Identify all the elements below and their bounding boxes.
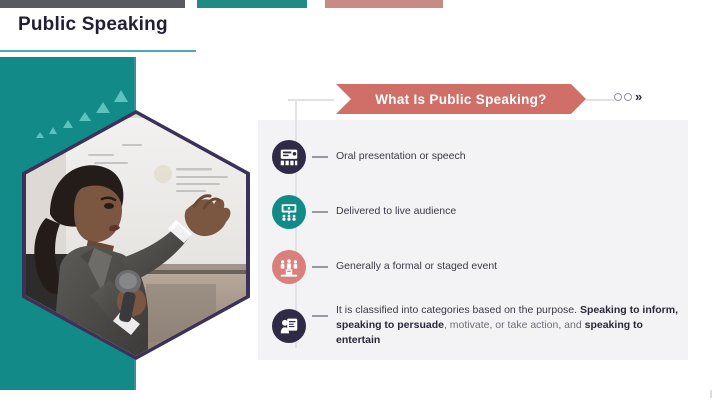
list-item-dash: [312, 315, 328, 317]
page-title: Public Speaking: [18, 14, 168, 36]
audience-screen-glyph: [278, 201, 300, 223]
presentation-board-icon: [272, 140, 306, 174]
list-item-dash: [312, 266, 328, 268]
top-bar-gap-2: [307, 0, 325, 8]
list-item: It is classified into categories based o…: [272, 303, 680, 349]
list-item: Oral presentation or speech: [272, 140, 466, 174]
banner-lead-line: [586, 99, 614, 101]
section-banner: What Is Public Speaking?: [336, 84, 586, 114]
banner-arrow-group: »: [614, 90, 642, 103]
list-item-text: It is classified into categories based o…: [336, 303, 680, 349]
podium-audience-glyph: [278, 256, 300, 278]
speaker-slide-icon: [272, 309, 306, 343]
list-item-text: Generally a formal or staged event: [336, 259, 497, 274]
dot-ring-icon-2: [624, 93, 632, 101]
speaker-photo: [26, 114, 246, 356]
top-bar-gray: [0, 0, 185, 8]
section-banner-label: What Is Public Speaking?: [375, 92, 546, 107]
title-underline: [0, 50, 196, 52]
page-marker: [710, 390, 712, 398]
list-item-text: Delivered to live audience: [336, 204, 456, 219]
list-item: Delivered to live audience: [272, 195, 456, 229]
top-bar-teal: [197, 0, 307, 8]
triangle-icon-6: [114, 90, 128, 102]
speaker-photo-illustration: [26, 114, 246, 356]
top-bar-salmon: [325, 0, 443, 8]
speaker-photo-hexagon: [22, 110, 250, 360]
list-item-text: Oral presentation or speech: [336, 149, 466, 164]
speaker-slide-glyph: [278, 315, 300, 337]
list-item-dash: [312, 211, 328, 213]
top-color-bars: [0, 0, 720, 8]
podium-audience-icon: [272, 250, 306, 284]
dot-ring-icon-1: [614, 93, 622, 101]
audience-screen-icon: [272, 195, 306, 229]
list-item: Generally a formal or staged event: [272, 250, 497, 284]
list-item-dash: [312, 156, 328, 158]
presentation-board-glyph: [278, 146, 300, 168]
top-bar-gap-1: [185, 0, 197, 8]
top-bar-filler: [443, 0, 720, 8]
double-chevron-right-icon: »: [635, 90, 642, 103]
